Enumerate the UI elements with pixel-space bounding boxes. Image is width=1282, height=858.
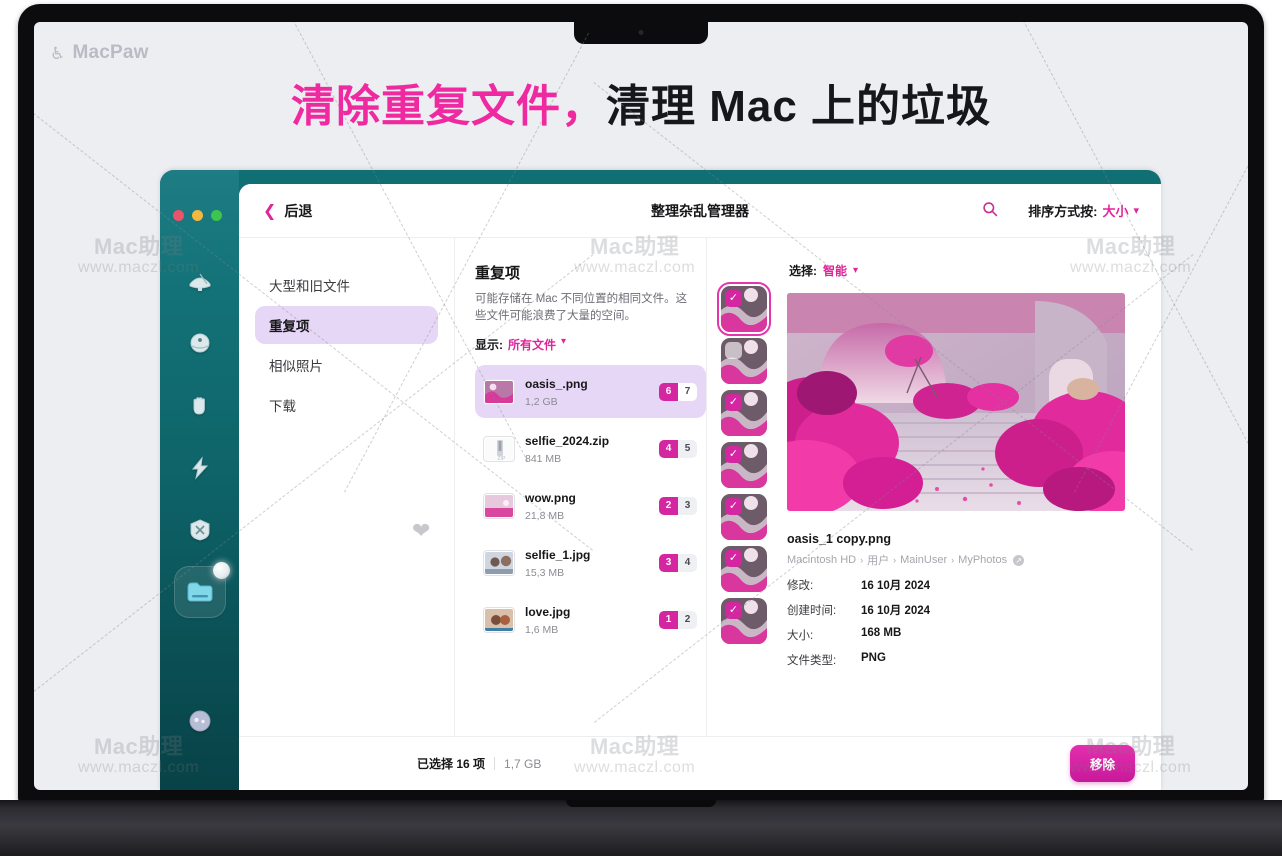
remove-button[interactable]: 移除 — [1070, 745, 1135, 782]
footer-bar: 已选择 16 项 1,7 GB 移除 — [239, 736, 1161, 790]
field-label: 文件类型: — [787, 652, 861, 668]
account-icon[interactable] — [180, 701, 220, 741]
performance-bolt-icon[interactable] — [180, 448, 220, 488]
headline-highlight: 清除重复文件， — [291, 82, 606, 131]
table-row[interactable]: ZIP selfie_2024.zip 841 MB 4 5 — [475, 422, 706, 475]
thumbnail-item[interactable]: ✓ — [721, 286, 767, 332]
file-meta: wow.png 21,8 MB — [525, 489, 659, 522]
detail-panel: ✓ ✓ ✓ ✓ — [707, 238, 1161, 790]
laptop-base — [0, 800, 1282, 856]
window-controls[interactable] — [173, 210, 222, 221]
duplicate-thumbnail-strip: ✓ ✓ ✓ ✓ — [707, 260, 779, 790]
divider — [494, 757, 495, 770]
field-value: 16 10月 2024 — [861, 602, 930, 618]
badge-selected-count: 1 — [659, 611, 678, 629]
file-name: selfie_1.jpg — [525, 548, 590, 562]
selection-summary: 已选择 16 项 1,7 GB — [417, 755, 541, 772]
macpaw-logo: ♿ MacPaw — [50, 42, 149, 64]
applications-icon[interactable] — [180, 510, 220, 550]
detail-file-name: oasis_1 copy.png — [787, 532, 1139, 546]
camera-notch — [574, 22, 708, 44]
sidebar-item-downloads[interactable]: 下载 — [255, 386, 438, 424]
toolbar: ❮ 后退 整理杂乱管理器 排序方式按: 大小 ▾ — [239, 184, 1161, 238]
file-meta: selfie_2024.zip 841 MB — [525, 432, 659, 465]
show-filter-value: 所有文件 — [508, 336, 556, 353]
thumbnail-item[interactable]: ✓ — [721, 390, 767, 436]
thumbnail-item[interactable]: ✓ — [721, 338, 767, 384]
field-value: 16 10月 2024 — [861, 577, 930, 593]
badge-selected-count: 4 — [659, 440, 678, 458]
field-value: PNG — [861, 652, 886, 668]
breadcrumb-separator: › — [893, 555, 896, 565]
selected-count-text: 已选择 16 项 — [417, 755, 485, 772]
nav-label: 相似照片 — [269, 355, 323, 375]
page-title: 清除重复文件，清理 Mac 上的垃圾 — [34, 70, 1248, 134]
back-button-label: 后退 — [284, 201, 312, 221]
status-badge: 1 2 — [659, 611, 697, 629]
file-name: selfie_2024.zip — [525, 434, 609, 448]
field-label: 修改: — [787, 577, 861, 593]
chevron-down-icon[interactable]: ▾ — [853, 265, 858, 276]
protection-icon[interactable] — [180, 324, 220, 364]
badge-selected-count: 3 — [659, 554, 678, 572]
thumbnail-item[interactable]: ✓ — [721, 494, 767, 540]
select-mode-value: 智能 — [823, 262, 847, 279]
detail-field: 创建时间: 16 10月 2024 — [787, 602, 1139, 618]
toolbar-actions: 排序方式按: 大小 ▾ — [982, 201, 1139, 221]
file-meta: selfie_1.jpg 15,3 MB — [525, 546, 659, 579]
file-name: wow.png — [525, 491, 576, 505]
macpaw-wordmark: MacPaw — [72, 42, 148, 64]
file-size: 21,8 MB — [525, 510, 659, 522]
status-badge: 3 4 — [659, 554, 697, 572]
duplicates-panel: 重复项 可能存储在 Mac 不同位置的相同文件。这些文件可能浪费了大量的空间。 … — [455, 238, 707, 790]
checkbox-checked[interactable]: ✓ — [725, 550, 742, 567]
file-size: 1,2 GB — [525, 396, 659, 408]
badge-selected-count: 2 — [659, 497, 678, 515]
badge-total-count: 4 — [678, 554, 697, 572]
sort-by-value: 大小 — [1102, 201, 1128, 220]
content-body: 大型和旧文件 重复项 相似照片 下载 重复项 可能存储在 Mac 不同位置的相同… — [239, 238, 1161, 790]
laptop-screen: ♿ MacPaw 清除重复文件，清理 Mac 上的垃圾 — [34, 22, 1248, 790]
laptop-frame: ♿ MacPaw 清除重复文件，清理 Mac 上的垃圾 — [18, 4, 1264, 804]
svg-text:ZIP: ZIP — [498, 456, 506, 461]
checkbox-checked[interactable]: ✓ — [725, 290, 742, 307]
file-thumbnail — [484, 380, 514, 404]
checkbox-checked[interactable]: ✓ — [725, 446, 742, 463]
file-size: 841 MB — [525, 453, 659, 465]
checkbox-unchecked[interactable]: ✓ — [725, 342, 742, 359]
show-filter-label: 显示: — [475, 336, 503, 353]
smart-scan-icon[interactable] — [180, 262, 220, 302]
badge-total-count: 3 — [678, 497, 697, 515]
status-badge: 2 3 — [659, 497, 697, 515]
chevron-left-icon: ❮ — [263, 201, 276, 221]
table-row[interactable]: selfie_1.jpg 15,3 MB 3 4 — [475, 536, 706, 589]
chevron-down-icon: ▾ — [1133, 204, 1139, 217]
breadcrumb-item[interactable]: MainUser — [900, 554, 947, 566]
thumbnail-item[interactable]: ✓ — [721, 546, 767, 592]
file-meta: oasis_.png 1,2 GB — [525, 375, 659, 408]
selected-size-text: 1,7 GB — [504, 757, 541, 771]
checkbox-checked[interactable]: ✓ — [725, 602, 742, 619]
section-title: 重复项 — [475, 262, 706, 283]
badge-total-count: 5 — [678, 440, 697, 458]
field-label: 创建时间: — [787, 602, 861, 618]
detail-field: 大小: 168 MB — [787, 627, 1139, 643]
breadcrumb-item[interactable]: 用户 — [867, 552, 889, 568]
file-thumbnail — [484, 551, 514, 575]
nav-label: 大型和旧文件 — [269, 275, 350, 295]
marketing-banner: ♿ MacPaw 清除重复文件，清理 Mac 上的垃圾 — [34, 22, 1248, 172]
headline-rest: 清理 Mac 上的垃圾 — [606, 82, 991, 131]
chevron-down-icon: ▾ — [561, 336, 566, 353]
status-badge: 6 7 — [659, 383, 697, 401]
sort-by-label: 排序方式按: — [1028, 201, 1097, 220]
badge-total-count: 7 — [678, 383, 697, 401]
window-content: ❮ 后退 整理杂乱管理器 排序方式按: 大小 ▾ — [239, 184, 1161, 790]
sidebar-item-large-old-files[interactable]: 大型和旧文件 — [255, 266, 438, 304]
duplicate-file-list: oasis_.png 1,2 GB 6 7 — [475, 365, 706, 646]
category-nav: 大型和旧文件 重复项 相似照片 下载 — [239, 238, 455, 790]
search-icon[interactable] — [982, 201, 998, 221]
table-row[interactable]: love.jpg 1,6 MB 1 2 — [475, 593, 706, 646]
breadcrumb-item[interactable]: Macintosh HD — [787, 554, 856, 566]
camera-icon — [639, 30, 644, 35]
close-button[interactable] — [173, 210, 184, 221]
paw-icon: ♿ — [50, 45, 65, 62]
checkbox-checked[interactable]: ✓ — [725, 394, 742, 411]
nav-label: 重复项 — [269, 315, 310, 335]
breadcrumb-separator: › — [951, 555, 954, 565]
back-button[interactable]: ❮ 后退 — [263, 201, 312, 221]
my-clutter-icon — [185, 579, 215, 605]
sort-by-dropdown[interactable]: 排序方式按: 大小 ▾ — [1028, 201, 1139, 220]
sidebar-item-my-clutter[interactable] — [174, 566, 226, 618]
section-description: 可能存储在 Mac 不同位置的相同文件。这些文件可能浪费了大量的空间。 — [475, 291, 689, 324]
sidebar-item-duplicates[interactable]: 重复项 — [255, 306, 438, 344]
file-meta: love.jpg 1,6 MB — [525, 603, 659, 636]
table-row[interactable]: wow.png 21,8 MB 2 3 — [475, 479, 706, 532]
detail-field: 修改: 16 10月 2024 — [787, 577, 1139, 593]
select-mode-label: 选择: — [789, 262, 817, 279]
file-size: 1,6 MB — [525, 624, 659, 636]
app-window: ❮ 后退 整理杂乱管理器 排序方式按: 大小 ▾ — [160, 170, 1161, 790]
detail-field: 文件类型: PNG — [787, 652, 1139, 668]
checkbox-checked[interactable]: ✓ — [725, 498, 742, 515]
zoom-button[interactable] — [211, 210, 222, 221]
file-name: love.jpg — [525, 605, 570, 619]
badge-total-count: 2 — [678, 611, 697, 629]
minimize-button[interactable] — [192, 210, 203, 221]
update-badge-dot — [213, 562, 230, 579]
show-filter-dropdown[interactable]: 显示: 所有文件 ▾ — [475, 336, 706, 353]
field-value: 168 MB — [861, 627, 901, 643]
thumbnail-item[interactable]: ✓ — [721, 598, 767, 644]
field-label: 大小: — [787, 627, 861, 643]
preview-image — [787, 293, 1125, 511]
nav-label: 下载 — [269, 395, 296, 415]
status-badge: 4 5 — [659, 440, 697, 458]
sidebar-item-similar-photos[interactable]: 相似照片 — [255, 346, 438, 384]
breadcrumb-item[interactable]: MyPhotos — [958, 554, 1007, 566]
table-row[interactable]: oasis_.png 1,2 GB 6 7 — [475, 365, 706, 418]
file-size: 15,3 MB — [525, 567, 659, 579]
badge-selected-count: 6 — [659, 383, 678, 401]
file-thumbnail — [484, 494, 514, 518]
file-thumbnail: ZIP — [484, 437, 514, 461]
file-name: oasis_.png — [525, 377, 588, 391]
breadcrumb-separator: › — [860, 555, 863, 565]
reveal-in-finder-icon[interactable]: ↗ — [1013, 555, 1024, 566]
preview-area: 选择: 智能 ▾ — [779, 260, 1161, 790]
breadcrumb: Macintosh HD › 用户 › MainUser › MyPhotos … — [787, 552, 1139, 568]
thumbnail-item[interactable]: ✓ — [721, 442, 767, 488]
cleanup-hand-icon[interactable] — [180, 386, 220, 426]
file-thumbnail — [484, 608, 514, 632]
